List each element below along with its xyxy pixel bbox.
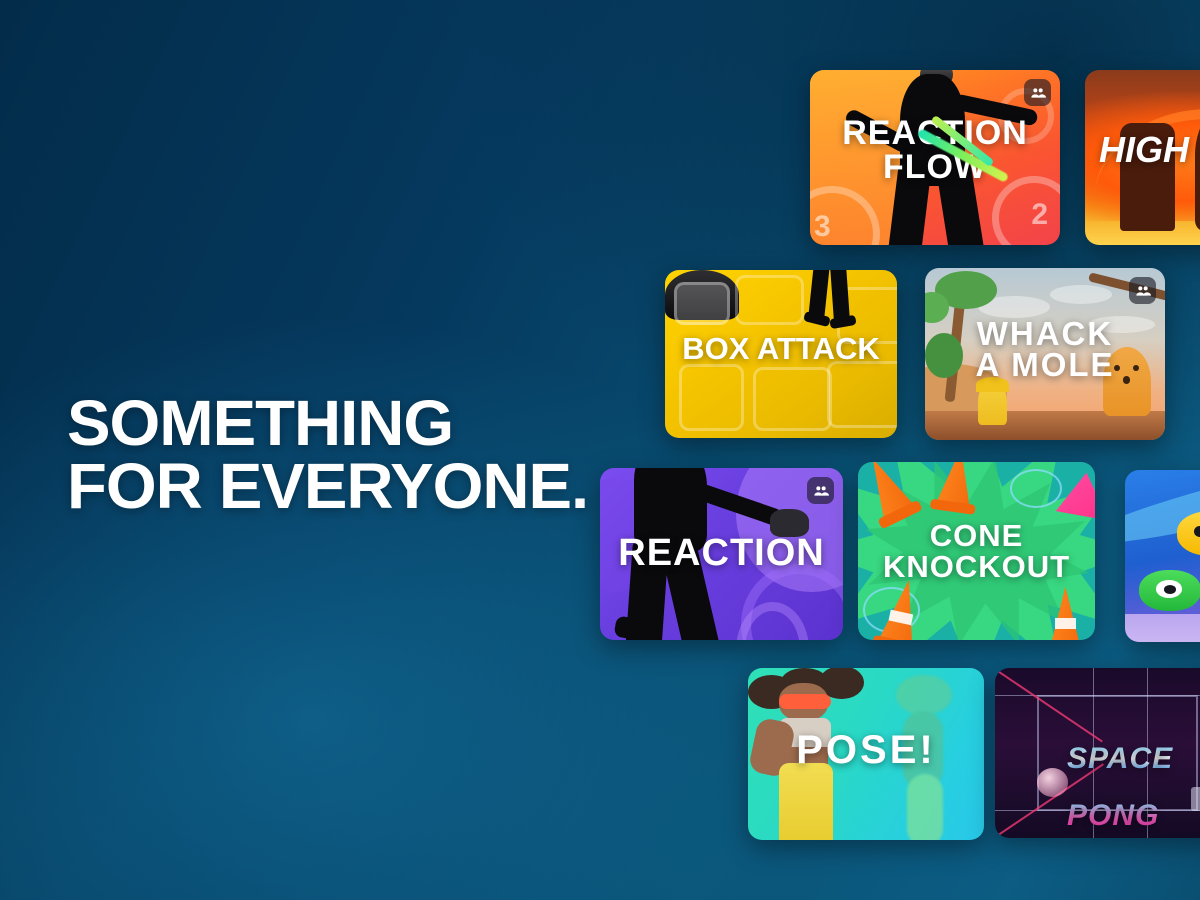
art-cone bbox=[1045, 587, 1085, 640]
headline-line-2: FOR EVERYONE. bbox=[67, 455, 588, 518]
art-box bbox=[753, 367, 832, 431]
multiplayer-group-icon bbox=[1030, 85, 1046, 101]
counter-2: 2 bbox=[1031, 198, 1048, 232]
card-title: REACTION FLOW bbox=[810, 116, 1060, 184]
game-card-space-pong[interactable]: SPACE PONG bbox=[995, 668, 1200, 838]
art-mole-small bbox=[978, 380, 1007, 425]
card-title: SPACE PONG bbox=[995, 716, 1200, 838]
art-cloud bbox=[1050, 285, 1112, 304]
game-card-reaction[interactable]: REACTION bbox=[600, 468, 843, 640]
card-title: HIGH bbox=[1085, 132, 1200, 168]
card-title: WHACK A MOLE bbox=[925, 318, 1165, 380]
headline-line-1: SOMETHING bbox=[67, 392, 588, 455]
game-card-high[interactable]: HIGH bbox=[1085, 70, 1200, 245]
game-card-cone-knockout[interactable]: CONE KNOCKOUT bbox=[858, 462, 1095, 640]
art-ring bbox=[992, 176, 1060, 245]
game-card-galaxy-jump[interactable]: GA JU bbox=[1125, 470, 1200, 642]
game-card-box-attack[interactable]: BOX ATTACK bbox=[665, 270, 897, 438]
art-floor bbox=[1125, 614, 1200, 642]
art-cone bbox=[930, 462, 983, 515]
art-box bbox=[674, 282, 730, 326]
card-title-line-2: PONG bbox=[1067, 802, 1200, 831]
card-title-line-1: SPACE bbox=[1067, 745, 1200, 774]
art-box bbox=[735, 275, 805, 325]
card-title: CONE KNOCKOUT bbox=[858, 520, 1095, 582]
multiplayer-group-icon bbox=[813, 483, 829, 499]
art-avatar-sunglasses bbox=[779, 694, 831, 709]
art-avatar-pants bbox=[779, 763, 833, 840]
game-card-pose[interactable]: POSE! bbox=[748, 668, 984, 840]
multiplayer-badge bbox=[1024, 79, 1051, 106]
art-spark bbox=[1010, 469, 1062, 508]
page-title: SOMETHING FOR EVERYONE. bbox=[67, 392, 588, 517]
counter-3: 3 bbox=[814, 210, 831, 244]
multiplayer-badge bbox=[807, 477, 834, 504]
card-title: REACTION bbox=[600, 534, 843, 572]
card-title: POSE! bbox=[748, 730, 984, 770]
art-gridline bbox=[995, 695, 1200, 696]
card-title: BOX ATTACK bbox=[665, 333, 897, 364]
game-card-reaction-flow[interactable]: 3 2 REACTION FLOW bbox=[810, 70, 1060, 245]
art-foot bbox=[803, 311, 830, 327]
art-box bbox=[679, 364, 744, 431]
card-title: GA JU bbox=[1125, 516, 1200, 583]
multiplayer-badge bbox=[1129, 277, 1156, 304]
art-box bbox=[827, 361, 897, 428]
multiplayer-group-icon bbox=[1135, 283, 1151, 299]
game-card-whack-a-mole[interactable]: WHACK A MOLE bbox=[925, 268, 1165, 440]
